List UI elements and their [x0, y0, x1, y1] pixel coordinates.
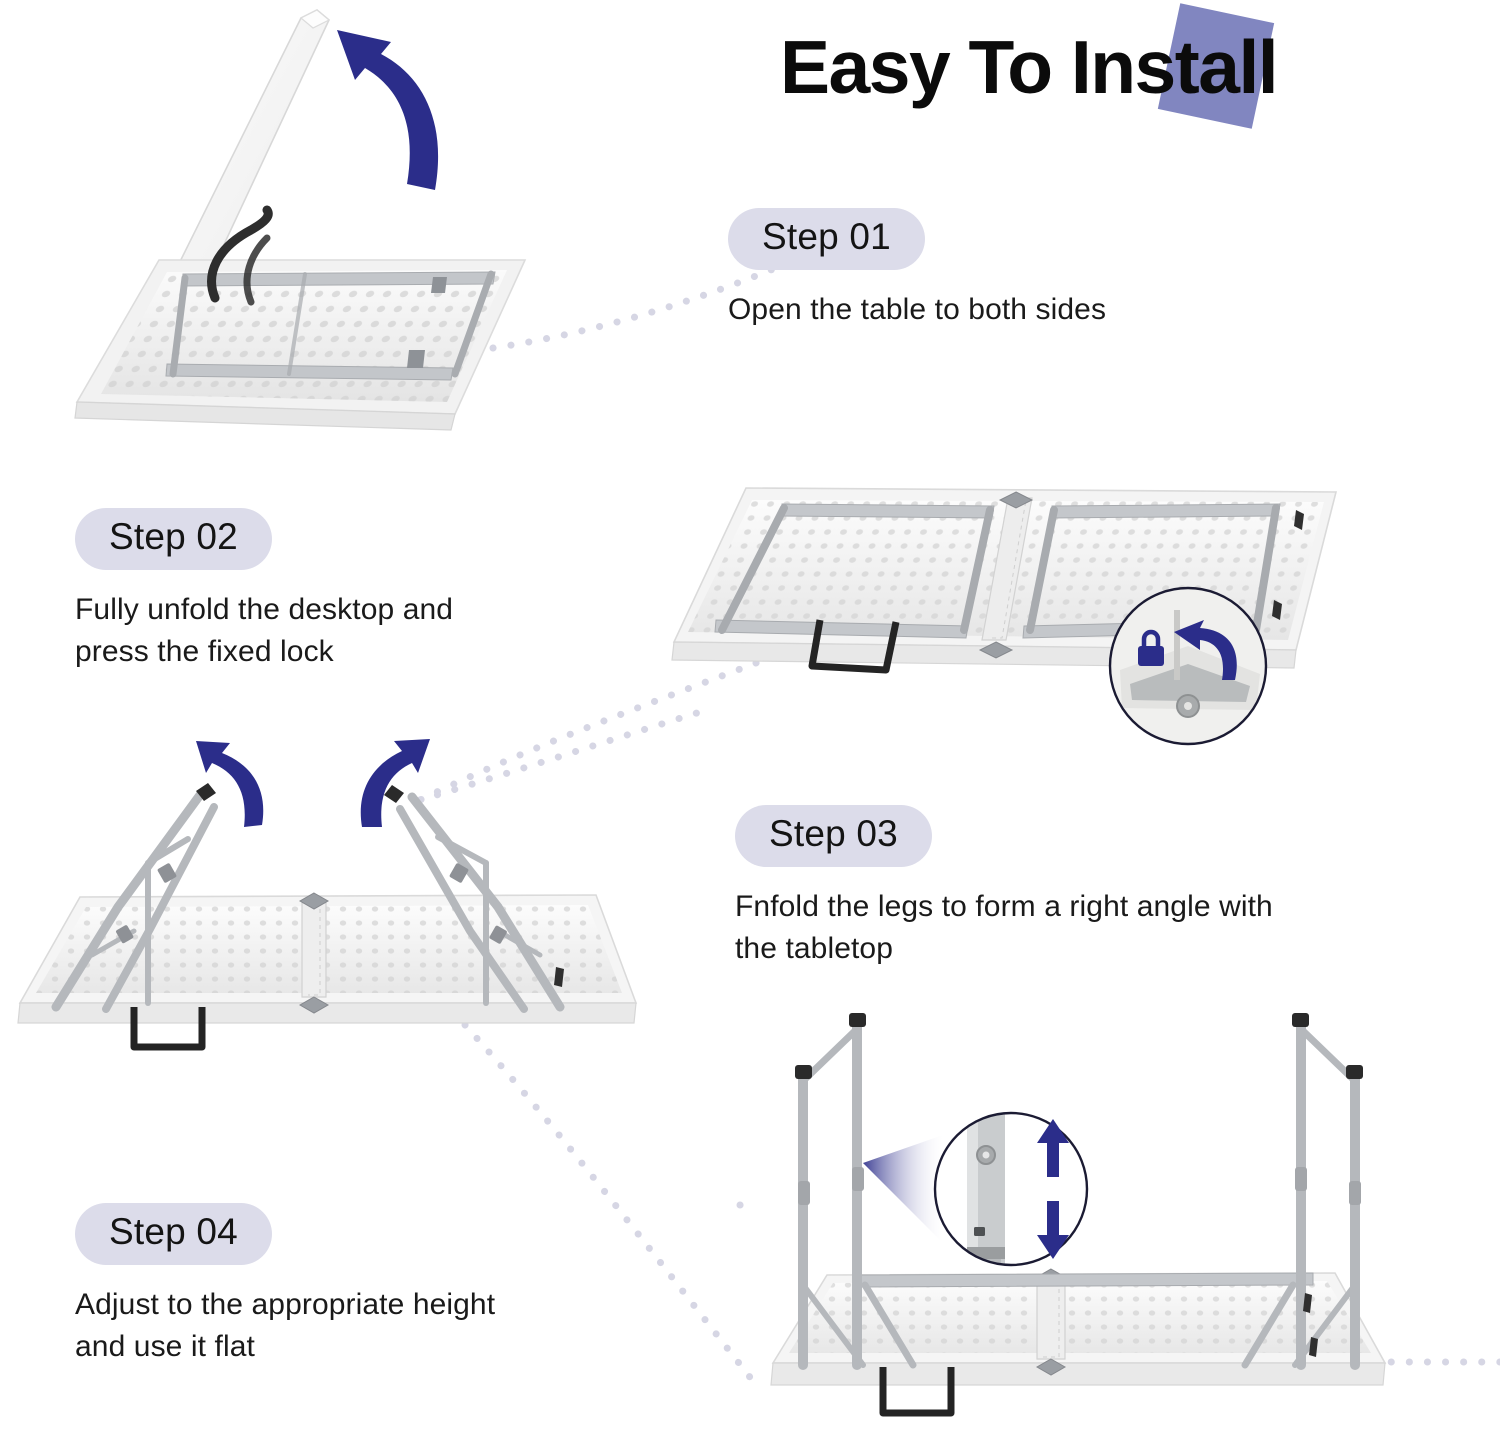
connector-3 [465, 1025, 760, 1390]
detail-zoom-cone [863, 1135, 943, 1243]
step-badge-01: Step 01 [728, 208, 925, 270]
step-description-01-line-1: Open the table to both sides [728, 289, 1106, 332]
step-description-03-line-1: Fnfold the legs to form a right angle wi… [735, 886, 1273, 929]
step-description-02: Fully unfold the desktop and press the f… [75, 589, 453, 674]
curved-arrow-left-up-icon [337, 30, 438, 190]
step-block-04: Step 04 Adjust to the appropriate height… [75, 1203, 495, 1369]
step-description-02-line-2: press the fixed lock [75, 631, 453, 674]
step-description-03: Fnfold the legs to form a right angle wi… [735, 886, 1273, 971]
illustration-step-04 [745, 985, 1435, 1434]
height-adjust-detail-circle [935, 1113, 1087, 1273]
step-block-02: Step 02 Fully unfold the desktop and pre… [75, 508, 453, 674]
illustration-step-03 [0, 735, 660, 1065]
center-fold-spine [300, 893, 328, 1013]
step-block-03: Step 03 Fnfold the legs to form a right … [735, 805, 1273, 971]
infographic-page: Easy To Install [0, 0, 1500, 1434]
page-title-text: Easy To Install [780, 30, 1277, 105]
leg-caps-right [384, 785, 404, 803]
step-badge-03: Step 03 [735, 805, 932, 867]
step-description-02-line-1: Fully unfold the desktop and [75, 589, 453, 632]
step-block-01: Step 01 Open the table to both sides [728, 208, 1106, 331]
step-description-04-line-2: and use it flat [75, 1326, 495, 1369]
step-description-04: Adjust to the appropriate height and use… [75, 1284, 495, 1369]
step-description-03-line-2: the tabletop [735, 928, 1273, 971]
step-description-04-line-1: Adjust to the appropriate height [75, 1284, 495, 1327]
step-badge-04: Step 04 [75, 1203, 272, 1265]
illustration-step-02 [660, 470, 1360, 720]
illustration-step-01 [55, 2, 555, 432]
step-badge-02: Step 02 [75, 508, 272, 570]
step-description-01: Open the table to both sides [728, 289, 1106, 332]
page-title: Easy To Install [780, 14, 1420, 124]
frame-rail [853, 1273, 1313, 1287]
